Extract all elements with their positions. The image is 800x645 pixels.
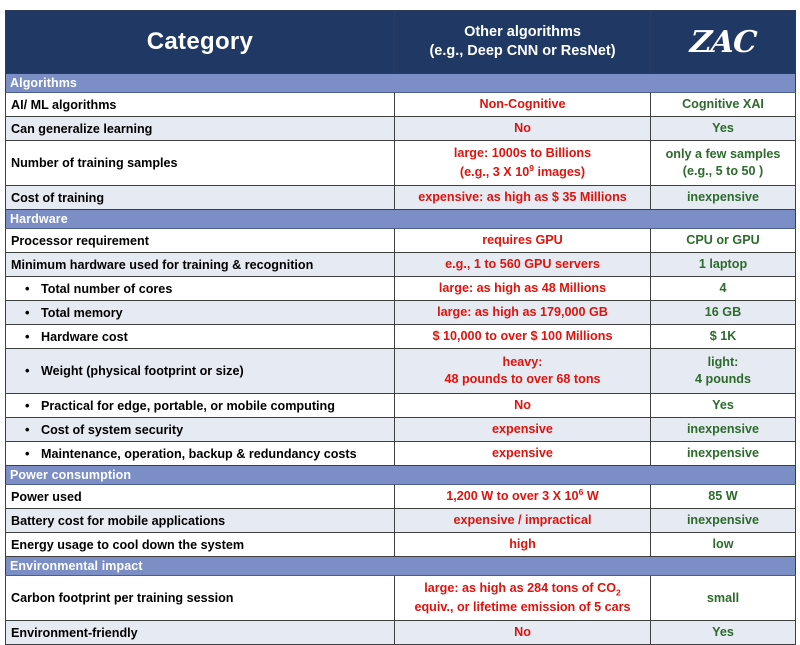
table-row: Maintenance, operation, backup & redunda…	[6, 442, 796, 466]
row-label: Carbon footprint per training session	[6, 576, 395, 621]
row-value-zac-line2: 4 pounds	[695, 372, 751, 386]
row-value-other-line2: equiv., or lifetime emission of 5 cars	[414, 600, 630, 614]
row-value-other: Non-Cognitive	[395, 93, 651, 117]
table-row: Weight (physical footprint or size) heav…	[6, 349, 796, 394]
row-label: Hardware cost	[6, 325, 395, 349]
section-title-power-consumption: Power consumption	[6, 466, 796, 485]
row-value-zac: CPU or GPU	[651, 229, 796, 253]
other-part-a: 1,200 W to over 3 X 10	[446, 490, 578, 504]
row-value-other: large: as high as 179,000 GB	[395, 301, 651, 325]
other-l1-subscript: 2	[616, 587, 621, 597]
row-value-other: No	[395, 621, 651, 645]
row-value-other-line2: 48 pounds to over 68 tons	[444, 372, 600, 386]
row-label: Total number of cores	[6, 277, 395, 301]
row-value-zac: low	[651, 533, 796, 557]
row-value-zac-line1: only a few samples	[666, 147, 781, 161]
row-value-zac: 4	[651, 277, 796, 301]
row-value-zac: inexpensive	[651, 418, 796, 442]
table-row: Can generalize learning No Yes	[6, 117, 796, 141]
row-value-zac: inexpensive	[651, 509, 796, 533]
section-title-environmental-impact: Environmental impact	[6, 557, 796, 576]
row-value-other: 1,200 W to over 3 X 106 W	[395, 485, 651, 509]
row-value-other-line1: heavy:	[503, 355, 543, 369]
table-row: Environment-friendly No Yes	[6, 621, 796, 645]
section-header-hardware: Hardware	[6, 210, 796, 229]
row-value-other: high	[395, 533, 651, 557]
table-row: Cost of training expensive: as high as $…	[6, 186, 796, 210]
row-value-other: expensive	[395, 442, 651, 466]
row-value-zac: small	[651, 576, 796, 621]
row-value-other: expensive / impractical	[395, 509, 651, 533]
row-value-other: expensive: as high as $ 35 Millions	[395, 186, 651, 210]
row-value-zac: $ 1K	[651, 325, 796, 349]
row-value-zac: Yes	[651, 117, 796, 141]
row-value-other-line1: large: 1000s to Billions	[454, 146, 591, 160]
table-row: Carbon footprint per training session la…	[6, 576, 796, 621]
row-value-other: No	[395, 394, 651, 418]
header-cell-category: Category	[6, 11, 395, 74]
row-value-other: large: 1000s to Billions (e.g., 3 X 109 …	[395, 141, 651, 186]
row-value-zac: 16 GB	[651, 301, 796, 325]
header-cell-other-algorithms: Other algorithms (e.g., Deep CNN or ResN…	[395, 11, 651, 74]
row-label: Energy usage to cool down the system	[6, 533, 395, 557]
table-row: Battery cost for mobile applications exp…	[6, 509, 796, 533]
table-row: Total number of cores large: as high as …	[6, 277, 796, 301]
row-value-zac: light: 4 pounds	[651, 349, 796, 394]
row-value-other: large: as high as 48 Millions	[395, 277, 651, 301]
row-value-zac: Yes	[651, 394, 796, 418]
row-value-other-line2: (e.g., 3 X 109 images)	[460, 165, 585, 179]
row-value-other-line1: large: as high as 284 tons of CO2	[424, 581, 621, 595]
other-part-b: W	[583, 490, 598, 504]
zac-logo: ZAC	[689, 25, 758, 60]
bullet-item-label: Hardware cost	[11, 330, 390, 344]
table-row: Total memory large: as high as 179,000 G…	[6, 301, 796, 325]
table-row: Power used 1,200 W to over 3 X 106 W 85 …	[6, 485, 796, 509]
header-other-line2: (e.g., Deep CNN or ResNet)	[429, 43, 615, 59]
row-label: Number of training samples	[6, 141, 395, 186]
section-header-power-consumption: Power consumption	[6, 466, 796, 485]
header-other-line1: Other algorithms	[464, 24, 581, 40]
row-value-other: expensive	[395, 418, 651, 442]
other-l1-part-a: large: as high as 284 tons of CO	[424, 581, 616, 595]
row-value-zac: inexpensive	[651, 442, 796, 466]
row-value-zac: inexpensive	[651, 186, 796, 210]
row-label: Environment-friendly	[6, 621, 395, 645]
row-label: Cost of system security	[6, 418, 395, 442]
row-label: Weight (physical footprint or size)	[6, 349, 395, 394]
row-value-zac: Yes	[651, 621, 796, 645]
row-value-other: $ 10,000 to over $ 100 Millions	[395, 325, 651, 349]
table-row: AI/ ML algorithms Non-Cognitive Cognitiv…	[6, 93, 796, 117]
other-l2-part-a: (e.g., 3 X 10	[460, 165, 529, 179]
row-value-zac-line2: (e.g., 5 to 50 )	[683, 164, 763, 178]
table-row: Hardware cost $ 10,000 to over $ 100 Mil…	[6, 325, 796, 349]
comparison-table-page: Category Other algorithms (e.g., Deep CN…	[0, 0, 800, 604]
algorithm-comparison-table: Category Other algorithms (e.g., Deep CN…	[5, 10, 796, 645]
row-value-other: e.g., 1 to 560 GPU servers	[395, 253, 651, 277]
table-row: Cost of system security expensive inexpe…	[6, 418, 796, 442]
row-label: AI/ ML algorithms	[6, 93, 395, 117]
bullet-item-label: Total number of cores	[11, 282, 390, 296]
section-title-algorithms: Algorithms	[6, 74, 796, 93]
row-label: Can generalize learning	[6, 117, 395, 141]
row-label: Cost of training	[6, 186, 395, 210]
row-value-other: large: as high as 284 tons of CO2 equiv.…	[395, 576, 651, 621]
table-row: Processor requirement requires GPU CPU o…	[6, 229, 796, 253]
table-row: Minimum hardware used for training & rec…	[6, 253, 796, 277]
section-title-hardware: Hardware	[6, 210, 796, 229]
row-value-zac: Cognitive XAI	[651, 93, 796, 117]
row-value-zac: 1 laptop	[651, 253, 796, 277]
header-cell-zac: ZAC	[651, 11, 796, 74]
bullet-item-label: Total memory	[11, 306, 390, 320]
section-header-environmental-impact: Environmental impact	[6, 557, 796, 576]
row-label: Minimum hardware used for training & rec…	[6, 253, 395, 277]
row-label: Practical for edge, portable, or mobile …	[6, 394, 395, 418]
table-row: Practical for edge, portable, or mobile …	[6, 394, 796, 418]
row-label: Power used	[6, 485, 395, 509]
table-header-row: Category Other algorithms (e.g., Deep CN…	[6, 11, 796, 74]
row-value-zac-line1: light:	[708, 355, 739, 369]
bullet-item-label: Weight (physical footprint or size)	[11, 364, 390, 378]
table-row: Number of training samples large: 1000s …	[6, 141, 796, 186]
row-value-other: heavy: 48 pounds to over 68 tons	[395, 349, 651, 394]
table-row: Energy usage to cool down the system hig…	[6, 533, 796, 557]
row-value-zac: only a few samples (e.g., 5 to 50 )	[651, 141, 796, 186]
other-l2-part-b: images)	[534, 165, 585, 179]
bullet-item-label: Maintenance, operation, backup & redunda…	[11, 447, 390, 461]
row-label: Battery cost for mobile applications	[6, 509, 395, 533]
section-header-algorithms: Algorithms	[6, 74, 796, 93]
bullet-item-label: Practical for edge, portable, or mobile …	[11, 399, 390, 413]
row-label: Processor requirement	[6, 229, 395, 253]
row-value-zac: 85 W	[651, 485, 796, 509]
header-category-label: Category	[147, 28, 253, 55]
row-label: Total memory	[6, 301, 395, 325]
row-value-other: requires GPU	[395, 229, 651, 253]
row-value-other: No	[395, 117, 651, 141]
bullet-item-label: Cost of system security	[11, 423, 390, 437]
row-label: Maintenance, operation, backup & redunda…	[6, 442, 395, 466]
